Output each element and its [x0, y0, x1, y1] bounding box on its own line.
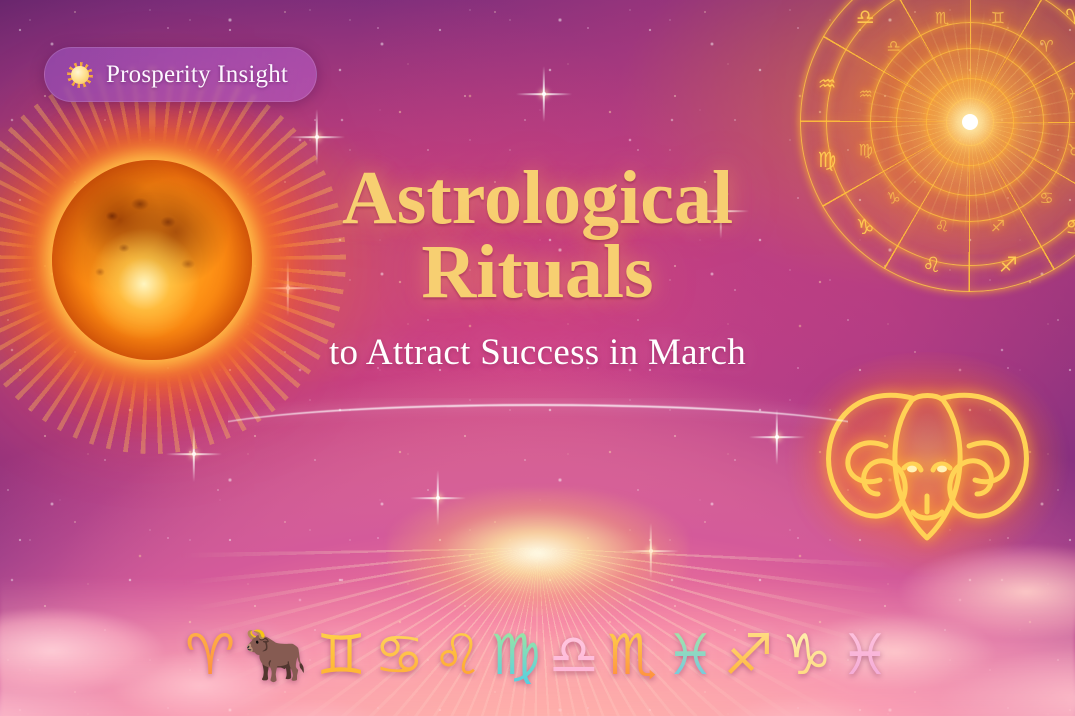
wheel-core-light: [962, 114, 978, 130]
zodiac-sign-scorpio: ♏: [607, 628, 657, 684]
zodiac-symbol-row: ♈🐂♊♋♌♍♎♏♓♐♑♓: [0, 628, 1075, 684]
poster-canvas: ♊♊♈♈♓♓♉♉♋♋♐♐♌♌♑♑♍♍♒♒♎♎♏♏: [0, 0, 1075, 716]
sun-icon-disc: [71, 66, 89, 84]
zodiac-sign-pisces: ♓: [840, 628, 890, 684]
title-line-2: Rituals: [0, 236, 1075, 310]
badge-label: Prosperity Insight: [106, 61, 288, 89]
sunburst-core: [388, 488, 688, 618]
prosperity-insight-badge[interactable]: Prosperity Insight: [44, 47, 317, 102]
zodiac-sign-gemini: ♊: [316, 628, 366, 684]
zodiac-sign-cancer: ♋: [374, 628, 424, 684]
title-line-1: Astrological: [342, 156, 733, 240]
sparkle-star: [520, 70, 568, 118]
page-subtitle: to Attract Success in March: [0, 331, 1075, 374]
zodiac-sign-leo: ♌: [432, 628, 482, 684]
zodiac-sign-aries: ♈: [185, 628, 235, 684]
aries-ram-graphic: [800, 372, 1055, 562]
zodiac-sign-taurus: 🐂: [243, 630, 308, 682]
zodiac-sign-libra: ♎: [549, 628, 599, 684]
ram-outline-icon: [800, 372, 1055, 562]
sun-icon: [67, 62, 93, 88]
page-title: Astrological Rituals: [0, 162, 1075, 309]
zodiac-sign-virgo: ♍: [491, 628, 541, 684]
wheel-glyph: ♒: [818, 72, 837, 96]
zodiac-sign-pisces-alt: ♓: [665, 628, 715, 684]
zodiac-sign-sagittarius: ♐: [723, 628, 773, 684]
headline-block: Astrological Rituals to Attract Success …: [0, 162, 1075, 374]
zodiac-sign-capricorn: ♑: [782, 628, 832, 684]
